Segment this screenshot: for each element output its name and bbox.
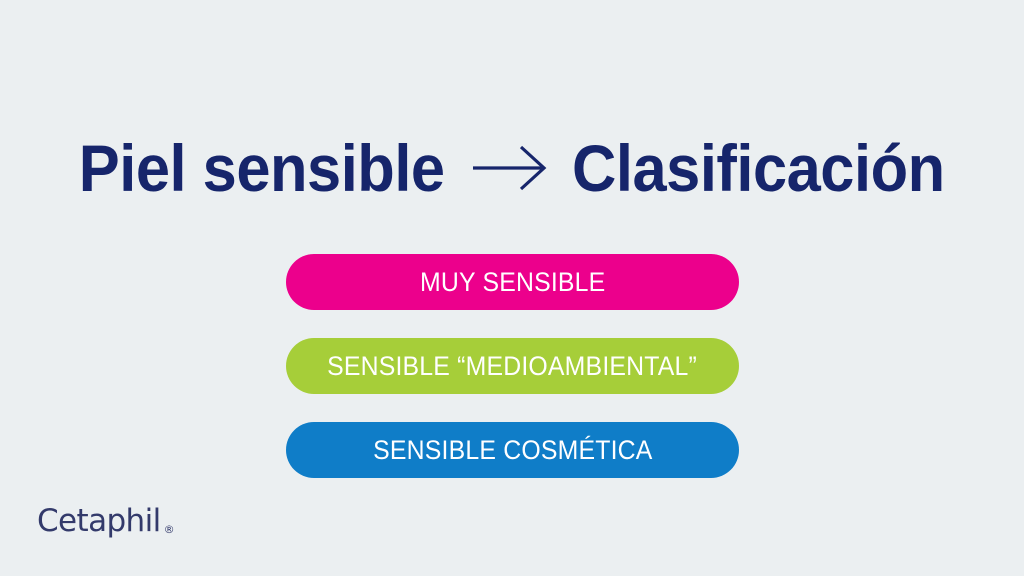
brand-logo: Cetaphil ® [37, 506, 175, 537]
classification-pill-label: MUY SENSIBLE [420, 269, 605, 296]
classification-pill-label: SENSIBLE “MEDIOAMBIENTAL” [328, 353, 698, 380]
classification-pill-label: SENSIBLE COSMÉTICA [373, 437, 652, 464]
slide-canvas: Piel sensible Clasificación MUY SENSIBLE… [0, 0, 1024, 576]
classification-pill-sensible-cosmetica[interactable]: SENSIBLE COSMÉTICA [286, 422, 739, 478]
page-title-part-one: Piel sensible [79, 135, 445, 201]
brand-logo-wordmark: Cetaphil [37, 506, 161, 537]
classification-pill-muy-sensible[interactable]: MUY SENSIBLE [286, 254, 739, 310]
classification-pill-sensible-medioambiental[interactable]: SENSIBLE “MEDIOAMBIENTAL” [286, 338, 739, 394]
page-title-part-two: Clasificación [572, 135, 945, 201]
registered-trademark-icon: ® [164, 524, 175, 535]
arrow-right-icon [468, 138, 554, 198]
page-title: Piel sensible Clasificación [0, 122, 1024, 214]
classification-list: MUY SENSIBLE SENSIBLE “MEDIOAMBIENTAL” S… [286, 254, 739, 478]
